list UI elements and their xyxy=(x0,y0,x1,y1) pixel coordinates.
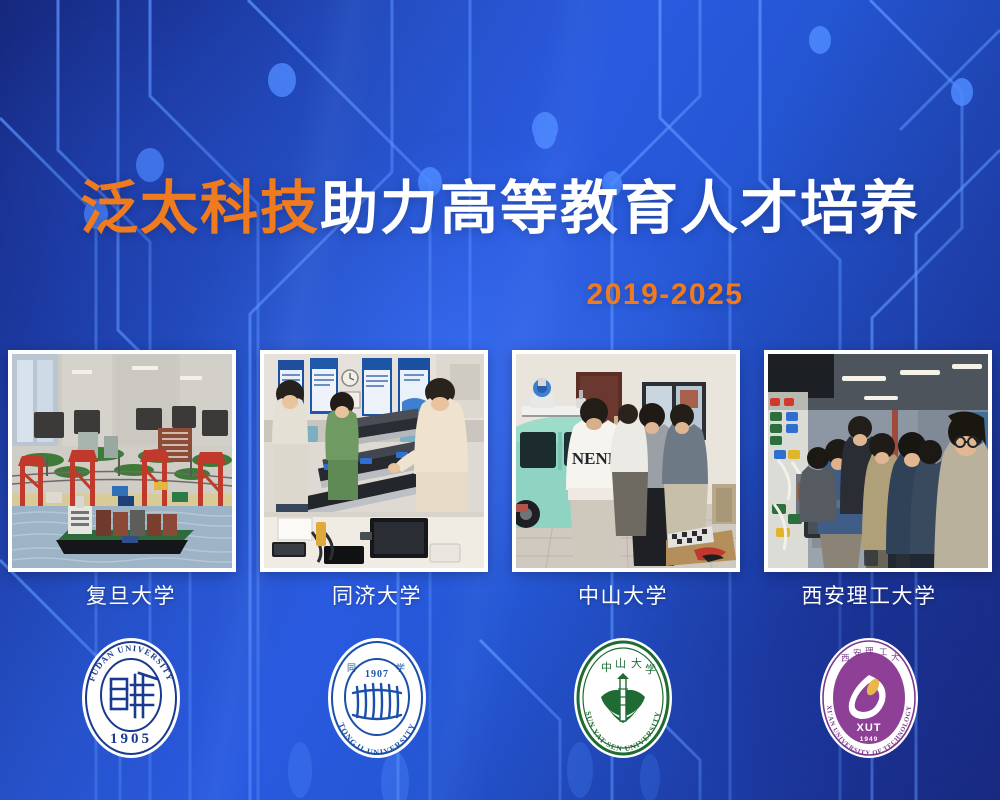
photo-card-sun-yat-sen[interactable]: NENR xyxy=(512,350,740,572)
photo-card-row: NENR xyxy=(0,350,1000,575)
photo-card-fudan[interactable] xyxy=(8,350,236,572)
caption-sun-yat-sen: 中山大学 xyxy=(500,580,746,620)
logo-cell-tongji: TONGJI UNIVERSITY 1907 同 学 xyxy=(254,628,500,768)
svg-text:西: 西 xyxy=(841,654,850,664)
subtitle-year-range: 2019-2025 xyxy=(0,278,1000,312)
university-logo-row: FUDAN UNIVERSITY 1905 xyxy=(0,628,1000,768)
students-around-autonomous-vehicle-photo: NENR xyxy=(516,354,736,568)
caption-xian-tech: 西安理工大学 xyxy=(746,580,992,620)
svg-text:大: 大 xyxy=(631,656,642,670)
xut-year: 1949 xyxy=(860,736,878,743)
svg-text:同: 同 xyxy=(347,663,356,674)
xut-abbr: XUT xyxy=(857,722,882,734)
svg-text:大: 大 xyxy=(891,652,900,663)
svg-text:安: 安 xyxy=(853,648,862,659)
photo-card-tongji[interactable] xyxy=(260,350,488,572)
students-observing-lab-machinery-photo xyxy=(768,354,988,568)
logo-cell-sun-yat-sen: SUN YAT-SEN UNIVERSITY 中山 大学 xyxy=(500,628,746,768)
students-at-equipment-benches-lab-photo xyxy=(264,354,484,568)
caption-fudan: 复旦大学 xyxy=(8,580,254,620)
svg-text:山: 山 xyxy=(615,657,626,670)
title-block: 泛太科技助力高等教育人才培养 xyxy=(0,175,1000,243)
title-tagline-text: 助力高等教育人才培养 xyxy=(320,176,920,241)
caption-tongji: 同济大学 xyxy=(254,580,500,620)
tongji-university-logo: TONGJI UNIVERSITY 1907 同 学 xyxy=(325,635,429,761)
university-caption-row: 复旦大学 同济大学 中山大学 西安理工大学 xyxy=(0,580,1000,620)
xian-university-of-technology-logo: XI'AN UNIVERSITY OF TECHNOLOGY 西安理 工大 XU… xyxy=(817,635,921,761)
page-title: 泛太科技助力高等教育人才培养 xyxy=(0,175,1000,243)
logo-cell-fudan: FUDAN UNIVERSITY 1905 xyxy=(8,628,254,768)
photo-card-xian-tech[interactable] xyxy=(764,350,992,572)
svg-text:学: 学 xyxy=(396,662,405,674)
svg-text:工: 工 xyxy=(879,648,888,658)
tongji-year: 1907 xyxy=(365,669,389,680)
port-harbor-scale-model-lab-photo xyxy=(12,354,232,568)
svg-text:理: 理 xyxy=(865,647,874,657)
sun-yat-sen-university-logo: SUN YAT-SEN UNIVERSITY 中山 大学 xyxy=(571,635,675,761)
svg-text:中: 中 xyxy=(601,661,612,674)
poster-root: 泛太科技助力高等教育人才培养 2019-2025 xyxy=(0,0,1000,800)
svg-text:学: 学 xyxy=(645,662,656,676)
fudan-year: 1905 xyxy=(110,731,152,747)
logo-cell-xian-tech: XI'AN UNIVERSITY OF TECHNOLOGY 西安理 工大 XU… xyxy=(746,628,992,768)
title-brand-text: 泛太科技 xyxy=(80,176,320,241)
fudan-university-logo: FUDAN UNIVERSITY 1905 xyxy=(79,635,183,761)
